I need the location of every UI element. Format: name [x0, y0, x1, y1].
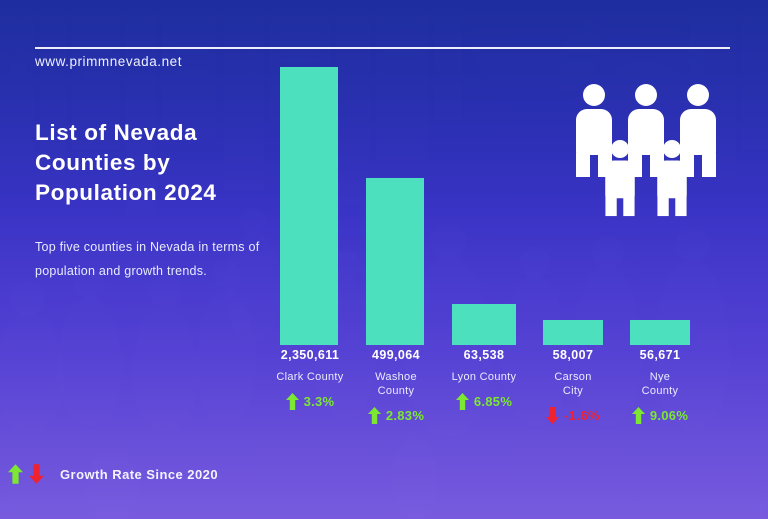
bar-label-group: 56,671 Nye County 9.06% [610, 348, 710, 424]
growth-value: -1.6% [564, 408, 599, 423]
growth-rate: 9.06% [610, 407, 710, 424]
growth-rate: 3.3% [260, 393, 360, 410]
county-name: Washoe County [346, 370, 446, 398]
arrow-down-icon [29, 464, 44, 484]
page-title: List of Nevada Counties by Population 20… [35, 118, 275, 208]
growth-rate: -1.6% [523, 407, 623, 424]
population-value: 63,538 [434, 348, 534, 362]
arrow-up-icon [368, 407, 381, 424]
county-name: Nye County [610, 370, 710, 398]
bar-column [543, 67, 603, 345]
infographic-canvas: www.primmnevada.net List of Nevada Count… [0, 0, 768, 519]
bar-label-group: 63,538 Lyon County 6.85% [434, 348, 534, 410]
bar-label-group: 499,064 Washoe County 2.83% [346, 348, 446, 424]
bar-label-group: 2,350,611 Clark County 3.3% [260, 348, 360, 410]
growth-value: 9.06% [650, 408, 688, 423]
arrow-up-icon [8, 464, 23, 484]
bar-column [630, 67, 690, 345]
bar-column [280, 67, 338, 345]
bar-nye-county [630, 320, 690, 345]
arrow-down-icon [546, 407, 559, 424]
bar-washoe-county [366, 178, 424, 345]
growth-rate: 2.83% [346, 407, 446, 424]
arrow-up-icon [456, 393, 469, 410]
arrow-up-icon [286, 393, 299, 410]
bar-lyon-county [452, 304, 516, 345]
growth-rate: 6.85% [434, 393, 534, 410]
county-name: Carson City [523, 370, 623, 398]
arrow-up-icon [632, 407, 645, 424]
growth-value: 6.85% [474, 394, 512, 409]
population-value: 56,671 [610, 348, 710, 362]
growth-value: 3.3% [304, 394, 335, 409]
population-value: 2,350,611 [260, 348, 360, 362]
bar-labels: 2,350,611 Clark County 3.3% 499,064 Wash… [258, 348, 728, 438]
county-name: Lyon County [434, 370, 534, 384]
population-value: 499,064 [346, 348, 446, 362]
county-name: Clark County [260, 370, 360, 384]
growth-value: 2.83% [386, 408, 424, 423]
bar-chart [258, 60, 728, 345]
header-divider [35, 47, 730, 49]
bar-clark-county [280, 67, 338, 345]
bar-column [452, 67, 516, 345]
bar-label-group: 58,007 Carson City -1.6% [523, 348, 623, 424]
bar-column [366, 67, 424, 345]
page-subtitle: Top five counties in Nevada in terms of … [35, 235, 270, 283]
population-value: 58,007 [523, 348, 623, 362]
website-url: www.primmnevada.net [35, 54, 182, 69]
bar-carson-city [543, 320, 603, 345]
legend: Growth Rate Since 2020 [8, 464, 218, 484]
legend-label: Growth Rate Since 2020 [60, 467, 218, 482]
